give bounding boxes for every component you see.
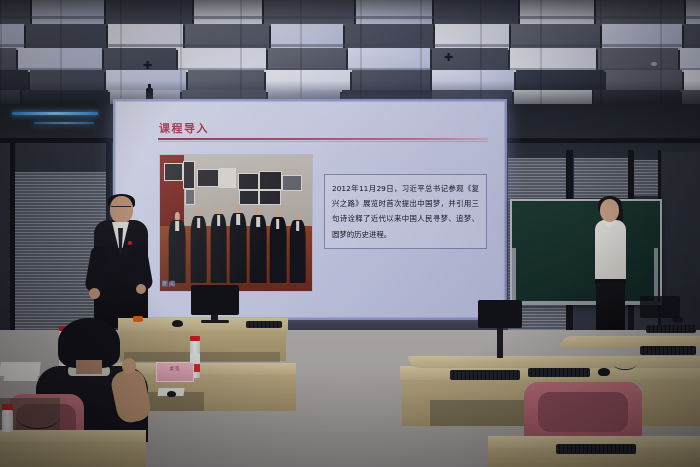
right-window-blinds (574, 158, 628, 198)
slide-title: 课程导入 (159, 120, 209, 136)
monitor-stand (497, 328, 503, 358)
cable (16, 404, 60, 429)
window-mullion (10, 140, 15, 340)
slide-photo-person (169, 212, 186, 283)
slide-photo-person (230, 204, 247, 283)
exhibit-text-panel (219, 168, 236, 188)
projection-screen: 课程导入 (113, 99, 507, 320)
keyboard (528, 368, 590, 377)
slide-textbox-body: 2012年11月29日，习近平总书记参观《复兴之路》展览时首次提出中国梦，并引用… (332, 181, 479, 242)
exhibit-frame (238, 173, 259, 190)
exhibit-frame (183, 161, 195, 189)
chalk-tray (508, 301, 660, 305)
exhibit-frame (185, 189, 195, 205)
slide-photo-person (190, 208, 207, 283)
cable (614, 360, 636, 370)
ceiling-fitting-icon: ✚ (444, 54, 453, 63)
front-desk-left (0, 430, 146, 442)
slide-textbox: 2012年11月29日，习近平总书记参观《复兴之路》展览时首次提出中国梦，并引用… (324, 174, 487, 249)
chair-right-inner (538, 392, 628, 432)
led-strip-light (12, 112, 98, 115)
slide-photo-person (269, 209, 286, 282)
ceiling (0, 0, 700, 112)
glasses-icon (111, 206, 131, 211)
slide-photo: 新闻 (159, 154, 313, 292)
keyboard (556, 444, 636, 454)
slide-photo-person (210, 205, 227, 283)
slide-title-rule-shadow (158, 141, 488, 142)
mouse (167, 391, 176, 397)
exhibit-frame (197, 169, 219, 187)
monitor (478, 300, 522, 328)
water-bottle (2, 410, 13, 432)
exhibit-frame (259, 190, 281, 205)
bottle-cap-icon (190, 336, 200, 341)
teacher-monitor (191, 285, 239, 315)
exhibit-frame (282, 175, 302, 191)
monitor-base (201, 320, 229, 323)
monitor (640, 296, 680, 318)
teacher-keyboard (246, 321, 282, 328)
smoke-detector-icon (651, 62, 657, 66)
teacher-mouse (172, 320, 183, 327)
slide-photo-person (289, 212, 306, 283)
console-desk-top (408, 356, 700, 368)
chalkboard (510, 199, 662, 305)
slide-title-rule (158, 138, 488, 140)
photo-watermark: 新闻 (162, 279, 176, 288)
ceiling-sprinkler-icon: ✚ (143, 62, 152, 71)
mouse (598, 368, 610, 376)
keyboard (640, 346, 696, 355)
exhibit-frame (239, 190, 259, 205)
front-desk-left-front (0, 442, 146, 467)
slide-photo-person (250, 207, 267, 283)
keyboard (450, 370, 520, 380)
lapel-pin-icon (128, 241, 132, 245)
classroom-photo-scene: ✚ ✚ 课程导入 (0, 0, 700, 467)
exhibit-frame (164, 163, 183, 181)
led-strip-light (34, 122, 94, 124)
bottle-cap-icon (2, 404, 13, 410)
keyboard (646, 325, 696, 333)
exhibit-frame (259, 171, 282, 190)
right-window-blinds (634, 160, 658, 196)
presentation-slide: 课程导入 (116, 102, 504, 317)
chalkboard-post (512, 248, 516, 304)
